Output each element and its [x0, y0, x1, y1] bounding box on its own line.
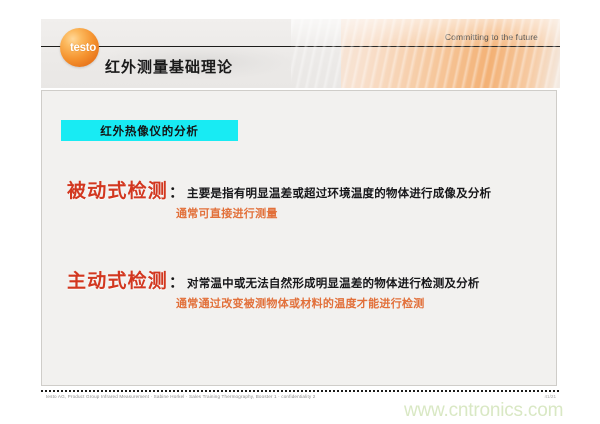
logo-wordmark: testo	[62, 42, 104, 54]
footer-dashed-rule	[41, 390, 560, 392]
testo-logo: testo	[60, 28, 99, 67]
content-term: 主动式检测	[67, 266, 168, 293]
content-description: 主要是指有明显温差或超过环境温度的物体进行成像及分析	[187, 185, 491, 201]
footer-page-number: 41/21	[545, 394, 557, 399]
content-note: 通常可直接进行测量	[176, 205, 278, 221]
slide-subheading-text: 红外热像仪的分析	[100, 123, 198, 139]
slide-title: 红外测量基础理论	[105, 56, 233, 77]
content-colon: ：	[169, 271, 184, 292]
brand-tagline: Committing to the future	[445, 32, 538, 42]
presentation-slide: Committing to the future testo 红外测量基础理论 …	[41, 19, 560, 389]
slide-subheading-box: 红外热像仪的分析	[61, 120, 238, 141]
slide-header-band: Committing to the future testo 红外测量基础理论	[41, 19, 560, 88]
content-lead-row: 主动式检测 ： 对常温中或无法自然形成明显温差的物体进行检测及分析	[67, 266, 480, 293]
content-note: 通常通过改变被测物体或材料的温度才能进行检测	[176, 295, 425, 311]
site-watermark: www.cntronics.com	[404, 400, 563, 422]
content-description: 对常温中或无法自然形成明显温差的物体进行检测及分析	[187, 275, 480, 291]
slide-body-panel: 红外热像仪的分析 被动式检测 ： 主要是指有明显温差或超过环境温度的物体进行成像…	[41, 90, 557, 386]
content-lead-row: 被动式检测 ： 主要是指有明显温差或超过环境温度的物体进行成像及分析	[67, 176, 491, 203]
header-rule-line	[41, 46, 560, 47]
content-term: 被动式检测	[67, 176, 168, 203]
content-colon: ：	[169, 181, 184, 202]
footer-credit: testo AG, Product Group Infrared Measure…	[46, 394, 315, 399]
